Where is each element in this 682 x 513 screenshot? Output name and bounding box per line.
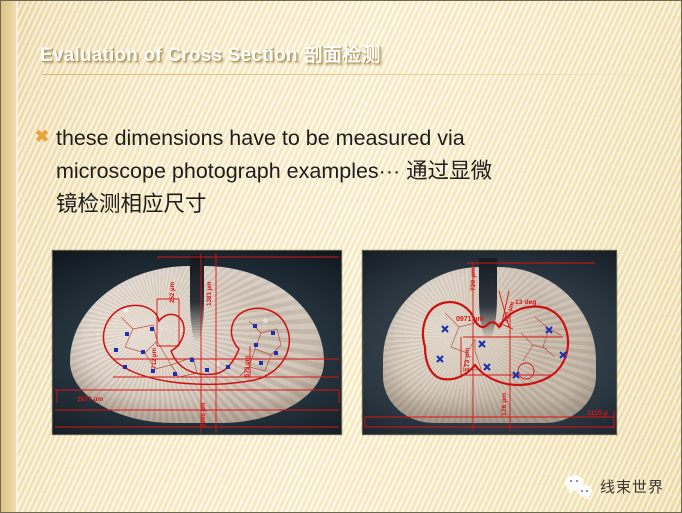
wechat-icon	[566, 476, 592, 497]
annotation-left-0: 252 µm	[169, 281, 176, 303]
annotation-right-0: 720 µm	[470, 268, 477, 291]
slide-title-english: Evaluation of Cross Section	[40, 45, 298, 66]
annotation-left-1: 1383 µm	[206, 281, 213, 306]
annotation-right-4: 173 µm	[464, 348, 471, 371]
annotation-left-4: 2877 µm	[77, 396, 103, 403]
bullet-line-3: 镜检测相应尺寸	[56, 188, 664, 221]
bullet-block: ✖ these dimensions have to be measured v…	[34, 122, 664, 221]
bullet-cross-icon: ✖	[34, 129, 50, 145]
watermark: 线束世界	[566, 476, 664, 497]
cross-section-photo-right: 720 µm 13 deg 192 µm 0971 µm 173 µm 176 …	[362, 250, 617, 435]
watermark-label: 线束世界	[600, 476, 664, 497]
bullet-line-2: microscope photograph examples··· 通过显微	[56, 155, 664, 188]
slide-title-chinese: 剖面检测	[304, 45, 381, 66]
annotation-right-3: 0971 µm	[456, 316, 484, 323]
measurement-overlay-left: 252 µm 1383 µm 712 µm 573 µm 2877 µm 298…	[53, 251, 341, 434]
bullet-line-1: these dimensions have to be measured via	[56, 122, 664, 155]
slide-left-accent-highlight	[16, 0, 18, 513]
annotation-left-2: 712 µm	[151, 347, 158, 369]
cross-section-photo-left: 252 µm 1383 µm 712 µm 573 µm 2877 µm 298…	[52, 250, 342, 435]
annotation-left-3: 573 µm	[244, 355, 251, 377]
bullet-text: these dimensions have to be measured via…	[56, 122, 664, 221]
annotation-right-1: 13 deg	[515, 299, 537, 306]
annotation-right-6: 1115 µ	[587, 410, 608, 417]
annotation-left-5: 2986 µm	[200, 402, 207, 427]
presentation-slide: Evaluation of Cross Section剖面检测 ✖ these …	[0, 0, 682, 513]
annotation-right-5: 176 µm	[501, 393, 508, 416]
measurement-overlay-right: 720 µm 13 deg 192 µm 0971 µm 173 µm 176 …	[363, 251, 616, 434]
title-divider-rule	[42, 74, 682, 75]
slide-left-accent-band	[0, 0, 17, 513]
slide-title: Evaluation of Cross Section剖面检测	[40, 40, 381, 67]
